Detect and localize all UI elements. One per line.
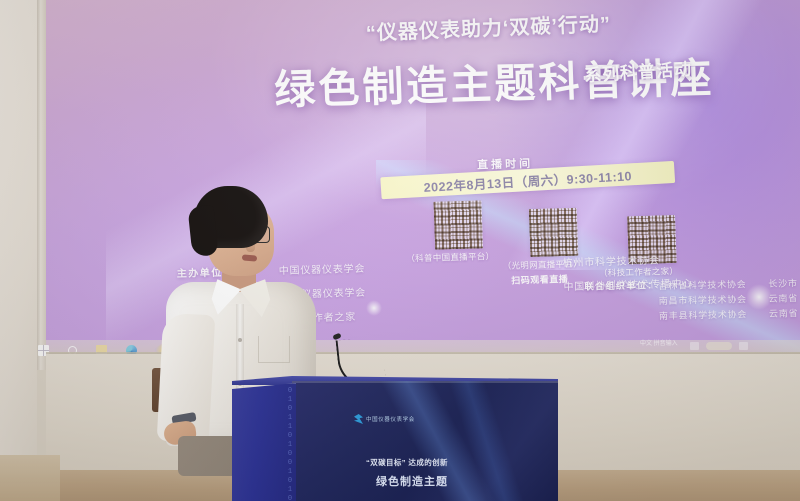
photo-scene: “仪器仪表助力‘双碳’行动” 绿色制造主题科普讲座 系列科普活动 直播时间 20…: [0, 0, 800, 501]
podium-line-2: 绿色制造主题: [332, 473, 492, 489]
speaker-mouth: [242, 254, 257, 261]
podium-logo-text: 中国仪器仪表学会: [366, 415, 415, 423]
podium-binary-pattern: 010110100101001011010010 010110100101001…: [234, 387, 294, 501]
podium-logo: 中国仪器仪表学会: [354, 414, 415, 424]
joint-org-label: 联合组织单位：: [584, 278, 658, 293]
podium-side-panel: 010110100101001011010010 010110100101001…: [232, 383, 296, 501]
tray-ime-text: 中文 拼音输入: [640, 341, 678, 347]
joint-org-c2-3: 云南省: [769, 306, 799, 320]
tray-icon[interactable]: [739, 342, 748, 350]
joint-org-c2-2: 云南省: [769, 291, 799, 305]
tray-battery-icon[interactable]: [706, 342, 732, 350]
organization-logo-icon: [354, 414, 363, 424]
joint-org-2: 南昌市科学技术协会: [659, 292, 747, 307]
floor-left: [0, 455, 60, 501]
wall-corner-edge: [37, 0, 46, 370]
podium-line-1: “双碳目标” 达成的创新: [332, 457, 482, 468]
tray-icon[interactable]: [690, 342, 699, 350]
shirt-pocket: [258, 336, 290, 363]
system-tray[interactable]: [690, 342, 748, 350]
joint-org-1: 吉林省科学技术协会: [658, 277, 746, 292]
joint-org-c2-1: 长沙市: [768, 276, 798, 290]
speaker-hair-side: [187, 205, 218, 257]
shirt-button: [238, 338, 242, 342]
joint-org-3: 南丰县科学技术协会: [659, 307, 747, 322]
podium: 010110100101001011010010 010110100101001…: [232, 381, 558, 501]
left-wall: [0, 0, 37, 501]
